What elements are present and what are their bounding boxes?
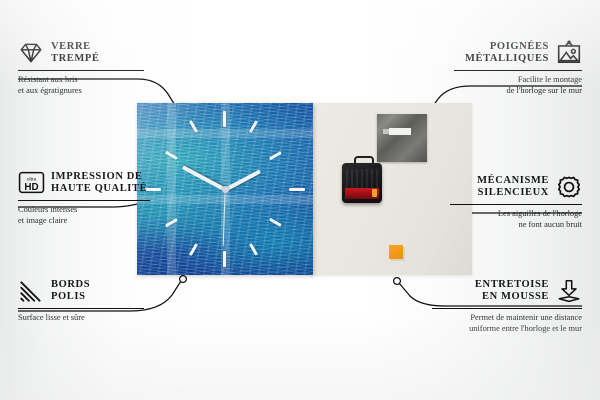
- callout-entretoise-mousse: ENTRETOISE EN MOUSSE Permet de maintenir…: [422, 278, 582, 334]
- clock-mechanism-box: [342, 163, 382, 203]
- callout-sub-line2: ne font aucun bruit: [440, 220, 582, 230]
- callout-title-line2: MÉTALLIQUES: [465, 53, 549, 66]
- down-arrow-on-pad-icon: [556, 278, 582, 304]
- clock-front-glass: [137, 103, 313, 275]
- callout-title-line1: VERRE: [51, 41, 100, 54]
- callout-bords-polis: BORDS POLIS Surface lisse et sûre: [18, 278, 154, 324]
- callout-rule: [450, 204, 582, 205]
- callout-sub-line1: Couleurs intenses: [18, 205, 160, 215]
- callout-verre-trempe: VERRE TREMPÉ Résistant aux bris et aux é…: [18, 40, 154, 96]
- callout-title-line1: MÉCANISME: [477, 175, 549, 188]
- callout-title-line2: SILENCIEUX: [477, 187, 549, 200]
- callout-rule: [18, 70, 144, 71]
- callout-rule: [454, 70, 582, 71]
- callout-title-line1: ENTRETOISE: [475, 279, 549, 292]
- infographic-canvas: VERRE TREMPÉ Résistant aux bris et aux é…: [0, 0, 600, 400]
- callout-poignees-metalliques: POIGNÉES MÉTALLIQUES Facilite le montage…: [444, 40, 582, 96]
- callout-sub-line2: et image claire: [18, 216, 160, 226]
- metal-hanger-bracket: [377, 114, 427, 162]
- diamond-icon: [18, 40, 44, 66]
- picture-frame-hanger-icon: [556, 40, 582, 66]
- gear-icon: [556, 174, 582, 200]
- polished-edge-lines-icon: [18, 278, 44, 304]
- callout-sub-line1: Surface lisse et sûre: [18, 313, 154, 323]
- callout-sub-line2: uniforme entre l'horloge et le mur: [422, 324, 582, 334]
- callout-sub-line1: Résistant aux bris: [18, 75, 154, 85]
- marker-entretoise: [394, 278, 401, 285]
- callout-impression-hd: ultra HD IMPRESSION DE HAUTE QUALITÉ Cou…: [18, 170, 160, 226]
- bracket-slot: [389, 128, 411, 135]
- callout-rule: [18, 308, 144, 309]
- callout-mecanisme-silencieux: MÉCANISME SILENCIEUX Les aiguilles de l'…: [440, 174, 582, 230]
- callout-sub-line1: Facilite le montage: [444, 75, 582, 85]
- glass-glare: [137, 103, 313, 275]
- callout-title-line2: POLIS: [51, 291, 90, 304]
- foam-spacer: [389, 245, 403, 259]
- callout-title-line2: HAUTE QUALITÉ: [51, 183, 147, 196]
- battery: [345, 188, 379, 199]
- svg-text:HD: HD: [24, 182, 38, 193]
- callout-rule: [18, 200, 150, 201]
- callout-title-line1: POIGNÉES: [465, 41, 549, 54]
- callout-title-line2: EN MOUSSE: [475, 291, 549, 304]
- callout-sub-line1: Les aiguilles de l'horloge: [440, 209, 582, 219]
- callout-sub-line1: Permet de maintenir une distance: [422, 313, 582, 323]
- callout-rule: [432, 308, 582, 309]
- mechanism-hanger-hook: [354, 156, 374, 167]
- callout-title-line2: TREMPÉ: [51, 53, 100, 66]
- marker-bords-polis: [180, 276, 187, 283]
- callout-title-line1: IMPRESSION DE: [51, 171, 147, 184]
- callout-title-line1: BORDS: [51, 279, 90, 292]
- mechanism-face: [346, 169, 378, 189]
- ultra-hd-badge-icon: ultra HD: [18, 170, 44, 196]
- callout-sub-line2: et aux égratignures: [18, 86, 154, 96]
- callout-sub-line2: de l'horloge sur le mur: [444, 86, 582, 96]
- product-image: [137, 103, 472, 275]
